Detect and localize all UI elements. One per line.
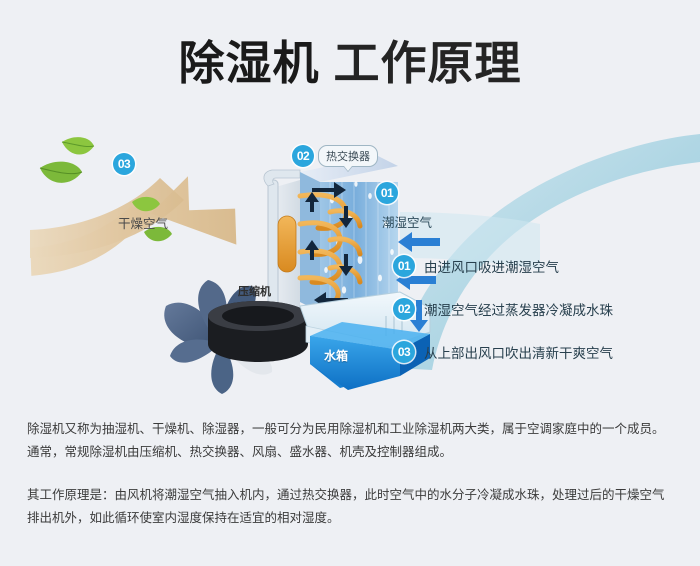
evaporator-block — [300, 156, 398, 312]
dry-air-label: 干燥空气 — [118, 213, 168, 232]
legend-badge-03: 03 — [393, 341, 415, 363]
infographic-root: 除湿机工作原理 — [0, 0, 700, 566]
body-paragraph-2: 其工作原理是：由风机将潮湿空气抽入机内，通过热交换器，此时空气中的水分子冷凝成水… — [27, 484, 675, 530]
page-title-part2: 工作原理 — [334, 37, 522, 89]
page-title-part1: 除湿机 — [179, 37, 320, 89]
body-copy: 除湿机又称为抽湿机、干燥机、除湿器，一般可分为民用除湿机和工业除湿机两大类，属于… — [27, 418, 675, 530]
compressor-label: 压缩机 — [238, 283, 271, 299]
legend-list: 01 由进风口吸进潮湿空气 02 潮湿空气经过蒸发器冷凝成水珠 03 从上部出风… — [393, 255, 683, 384]
diagram-badge-01: 01 — [376, 182, 398, 204]
page-title: 除湿机工作原理 — [0, 34, 700, 92]
legend-text-02: 潮湿空气经过蒸发器冷凝成水珠 — [424, 299, 613, 319]
water-tank-label: 水箱 — [324, 347, 348, 364]
diagram-badge-02: 02 — [292, 145, 314, 167]
legend-text-01: 由进风口吸进潮湿空气 — [424, 256, 559, 276]
legend-item-02: 02 潮湿空气经过蒸发器冷凝成水珠 — [393, 298, 683, 320]
humid-air-label: 潮湿空气 — [382, 212, 432, 231]
heat-exchanger-callout: 热交换器 — [318, 145, 378, 167]
legend-badge-02: 02 — [393, 298, 415, 320]
legend-item-03: 03 从上部出风口吹出清新干爽空气 — [393, 341, 683, 363]
legend-badge-01: 01 — [393, 255, 415, 277]
legend-text-03: 从上部出风口吹出清新干爽空气 — [424, 342, 613, 362]
heat-exchanger-label: 热交换器 — [326, 151, 370, 163]
diagram-badge-03: 03 — [113, 153, 135, 175]
body-paragraph-1: 除湿机又称为抽湿机、干燥机、除湿器，一般可分为民用除湿机和工业除湿机两大类，属于… — [27, 418, 675, 464]
legend-item-01: 01 由进风口吸进潮湿空气 — [393, 255, 683, 277]
callout-tail — [343, 166, 353, 172]
